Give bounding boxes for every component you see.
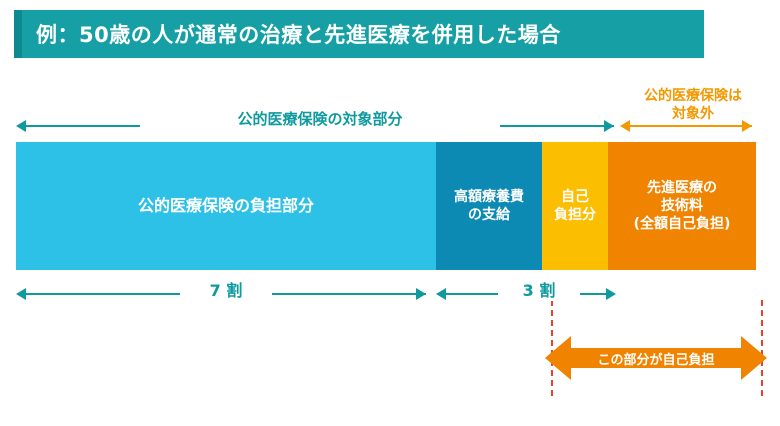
bar-segment-advanced-label-3: (全額自己負担) [634,215,731,233]
arrow-head-left-icon [16,288,26,300]
bar-segment-high-cost-benefit: 高額療養費 の支給 [436,142,542,270]
diagram-canvas: 例：50歳の人が通常の治療と先進医療を併用した場合 公的医療保険の対象部分 公的… [0,0,780,426]
arrow-head-left-icon [16,120,26,132]
bar-segment-advanced-medical-fee: 先進医療の 技術料 (全額自己負担) [608,142,756,270]
bar-segment-high-cost-benefit-label-1: 高額療養費 [454,188,524,206]
cost-breakdown-bar: 公的医療保険の負担部分 高額療養費 の支給 自己 負担分 先進医療の 技術料 (… [16,142,756,270]
arrow-head-right-icon [416,288,426,300]
bar-segment-advanced-label-1: 先進医療の [634,179,731,197]
arrow-head-left-icon [436,288,446,300]
label-insurance-uncovered-line2: 対象外 [614,106,772,124]
bar-segment-high-cost-benefit-label-2: の支給 [454,206,524,224]
label-ratio-seventy: 7 割 [180,277,272,301]
arrow-line [630,125,752,127]
callout-self-payment-range: この部分が自己負担 [545,330,767,386]
label-ratio-thirty: 3 割 [498,277,580,301]
label-insurance-covered: 公的医療保険の対象部分 [140,108,500,129]
title-accent-bar [14,10,22,58]
page-title: 例：50歳の人が通常の治療と先進医療を併用した場合 [22,19,561,49]
bar-segment-self-payment-label-2: 負担分 [554,206,596,224]
arrow-head-right-icon [606,288,616,300]
bar-segment-advanced-label-2: 技術料 [634,197,731,215]
bar-segment-self-payment-label-1: 自己 [554,188,596,206]
label-insurance-uncovered-line1: 公的医療保険は [614,88,772,106]
bar-segment-public-burden-label: 公的医療保険の負担部分 [138,196,314,217]
title-banner: 例：50歳の人が通常の治療と先進医療を併用した場合 [14,10,704,58]
bar-segment-self-payment: 自己 負担分 [542,142,608,270]
label-insurance-uncovered: 公的医療保険は 対象外 [614,88,772,123]
bar-segment-public-burden: 公的医療保険の負担部分 [16,142,436,270]
arrow-head-right-icon [604,120,614,132]
callout-self-payment-label: この部分が自己負担 [545,330,767,386]
